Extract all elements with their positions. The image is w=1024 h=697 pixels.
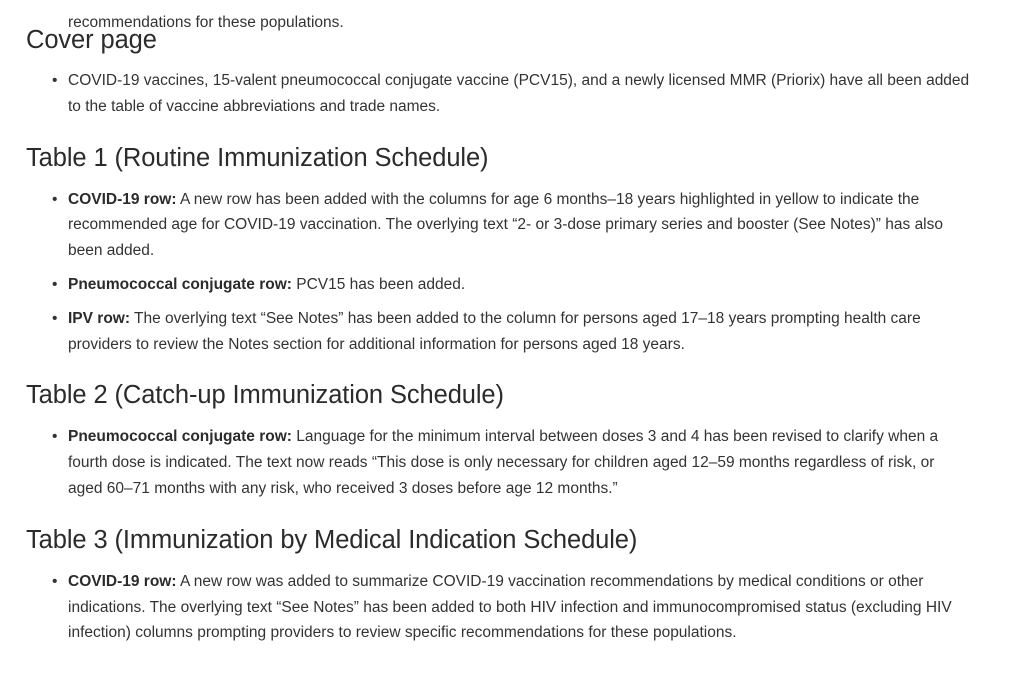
section-heading-table-2: Table 2 (Catch-up Immunization Schedule) (0, 379, 1024, 411)
bullet-icon: • (52, 272, 62, 298)
list-item-text: A new row has been added with the column… (68, 191, 943, 260)
document-page: recommendations for these populations. C… (0, 24, 1024, 646)
list-item: • COVID-19 row: A new row has been added… (0, 187, 1024, 264)
section-table-3: Table 3 (Immunization by Medical Indicat… (0, 524, 1024, 646)
list-item-text: COVID-19 vaccines, 15-valent pneumococca… (68, 72, 969, 115)
list-item-text: PCV15 has been added. (292, 276, 465, 293)
list-item-lead: COVID-19 row: (68, 191, 177, 208)
list-item-body: COVID-19 row: A new row was added to sum… (68, 569, 973, 646)
list-item: • COVID-19 vaccines, 15-valent pneumococ… (0, 68, 1024, 120)
bullet-list-table-3: • COVID-19 row: A new row was added to s… (0, 569, 1024, 646)
bullet-list-table-2: • Pneumococcal conjugate row: Language f… (0, 424, 1024, 501)
list-item-lead: IPV row: (68, 310, 130, 327)
list-item-body: IPV row: The overlying text “See Notes” … (68, 306, 973, 358)
bullet-icon: • (52, 187, 62, 213)
section-table-2: Table 2 (Catch-up Immunization Schedule)… (0, 379, 1024, 501)
bullet-icon: • (52, 569, 62, 595)
list-item: • COVID-19 row: A new row was added to s… (0, 569, 1024, 646)
section-heading-table-3: Table 3 (Immunization by Medical Indicat… (0, 524, 1024, 556)
bullet-list-table-1: • COVID-19 row: A new row has been added… (0, 187, 1024, 358)
list-item-body: Pneumococcal conjugate row: PCV15 has be… (68, 272, 973, 298)
bullet-icon: • (52, 306, 62, 332)
list-item-body: COVID-19 row: A new row has been added w… (68, 187, 973, 264)
list-item-body: COVID-19 vaccines, 15-valent pneumococca… (68, 68, 973, 120)
list-item-text: The overlying text “See Notes” has been … (68, 310, 921, 353)
section-table-1: Table 1 (Routine Immunization Schedule) … (0, 142, 1024, 358)
bullet-icon: • (52, 68, 62, 94)
bullet-list-cover-page: • COVID-19 vaccines, 15-valent pneumococ… (0, 68, 1024, 120)
list-item-body: Pneumococcal conjugate row: Language for… (68, 424, 973, 501)
list-item-lead: Pneumococcal conjugate row: (68, 276, 292, 293)
section-cover-page: Cover page • COVID-19 vaccines, 15-valen… (0, 24, 1024, 120)
list-item-text: A new row was added to summarize COVID-1… (68, 573, 952, 642)
list-item: • Pneumococcal conjugate row: Language f… (0, 424, 1024, 501)
list-item-lead: COVID-19 row: (68, 573, 177, 590)
clipped-previous-paragraph: recommendations for these populations. (68, 10, 958, 36)
bullet-icon: • (52, 424, 62, 450)
list-item: • Pneumococcal conjugate row: PCV15 has … (0, 272, 1024, 298)
list-item-lead: Pneumococcal conjugate row: (68, 428, 292, 445)
section-heading-table-1: Table 1 (Routine Immunization Schedule) (0, 142, 1024, 174)
list-item: • IPV row: The overlying text “See Notes… (0, 306, 1024, 358)
